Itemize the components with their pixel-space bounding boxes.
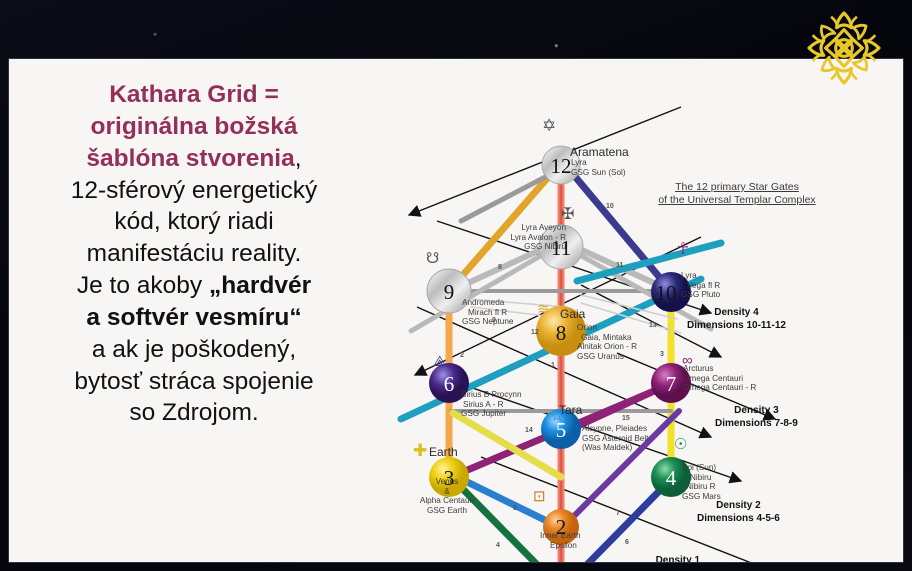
density-1-label: Density 1 Dimensions 1 -2-3	[635, 554, 721, 563]
sphere-10-labels: Lyra Vega fl R GSG Pluto	[681, 271, 720, 300]
slide-panel: Kathara Grid = originálna božská šablóna…	[8, 58, 904, 563]
sphere-2-labels: Inner Earth Epsilon	[540, 531, 581, 550]
sphere-name-gaia: Gaia	[560, 307, 585, 321]
sphere-11-labels: Lyra Aveyon Lyra Avalon - R GSG Nibiru	[500, 223, 566, 252]
ankh-icon: ☥	[677, 242, 689, 258]
edge-number-8: 8	[498, 264, 502, 271]
star-of-david-icon: ✡	[542, 117, 556, 134]
edge-number-2: 2	[460, 352, 464, 359]
sphere-9-labels: Andromeda Mirach fl R GSG Neptune	[462, 298, 513, 327]
edge-number-5: 5	[513, 505, 517, 512]
sphere-number-9: 9	[444, 280, 455, 304]
text-line-4: 12-sférový energetický	[19, 175, 369, 207]
sphere-4-labels: Sol (Sun) Nibiru Nibiru R GSG Mars	[682, 463, 721, 502]
diagram-title-line1: The 12 primary Star Gates	[647, 181, 827, 194]
slide-text-block: Kathara Grid = originálna božská šablóna…	[19, 79, 369, 429]
text-line-1: Kathara Grid =	[19, 79, 369, 111]
edge-number-11: 11	[616, 262, 623, 269]
edge-number-6: 6	[625, 539, 629, 546]
text-line-10: bytosť stráca spojenie	[19, 366, 369, 398]
density-3-label: Density 3 Dimensions 7-8-9	[715, 404, 798, 430]
edge-number-3: 3	[660, 351, 664, 358]
cross-icon: ✚	[413, 442, 427, 459]
crescent-icon: ☋	[426, 251, 439, 266]
sphere-name-tara: Tara	[559, 403, 582, 417]
diagram-title: The 12 primary Star Gates of the Univers…	[647, 181, 827, 207]
sphere-number-4: 4	[666, 466, 677, 490]
sphere-number-10: 10	[656, 281, 677, 305]
sphere-number-8: 8	[556, 321, 567, 345]
edge-number-1: 1	[551, 362, 555, 369]
edge-number-10: 10	[606, 203, 614, 210]
edge-number-15: 15	[622, 415, 630, 422]
edge-number-14: 14	[525, 427, 533, 434]
text-line-8: a softvér vesmíru“	[19, 302, 369, 334]
diagram-title-line2: of the Universal Templar Complex	[647, 194, 827, 207]
density-2-label: Density 2 Dimensions 4-5-6	[697, 499, 780, 525]
edge-number-13: 13	[649, 322, 657, 329]
fish-icon: ⟁	[433, 354, 446, 369]
edge-number-9: 9	[492, 317, 496, 324]
text-line-9: a ak je poškodený,	[19, 334, 369, 366]
density-4-label: Density 4 Dimensions 10-11-12	[687, 306, 786, 332]
sphere-number-6: 6	[444, 372, 455, 396]
text-line-3: šablóna stvorenia,	[19, 143, 369, 175]
sphere-5-labels: Alcyone, Pleiades GSG Asteroid Belt (Was…	[582, 424, 648, 453]
sphere-3-labels: Venus & Alpha Centauri GSG Earth	[405, 477, 489, 516]
sphere-12-labels: Lyra GSG Sun (Sol)	[571, 158, 626, 177]
text-line-5: kód, ktorý riadi	[19, 206, 369, 238]
square-dot-icon: ⊡	[533, 489, 546, 504]
edge-number-12: 12	[531, 329, 539, 336]
sphere-number-12: 12	[551, 154, 572, 178]
sun-circle-icon: ☉	[674, 437, 687, 452]
text-line-7: Je to akoby „hardvér	[19, 270, 369, 302]
sphere-7-labels: Arcturus Omega Centauri Omega Centauri -…	[683, 364, 756, 393]
sphere-name-earth: Earth	[429, 445, 458, 459]
sphere-8-labels: Orion Gaia, Mintaka Alnitak Orion - R GS…	[577, 323, 637, 362]
mandala-logo-icon	[798, 2, 890, 94]
sphere-number-7: 7	[666, 372, 677, 396]
maltese-cross-icon: ✠	[561, 207, 574, 223]
text-line-2: originálna božská	[19, 111, 369, 143]
sphere-6-labels: Sirius B Procynn Sirius A - R GSG Jupite…	[461, 390, 522, 419]
edge-number-7: 7	[616, 510, 620, 517]
text-line-6: manifestáciu reality.	[19, 238, 369, 270]
slide-root: Kathara Grid = originálna božská šablóna…	[0, 0, 912, 571]
edge-number-4: 4	[496, 542, 500, 549]
sphere-name-aramatena: Aramatena	[570, 145, 629, 159]
lightning-icon: ≋	[537, 302, 550, 317]
text-line-11: so Zdrojom.	[19, 397, 369, 429]
